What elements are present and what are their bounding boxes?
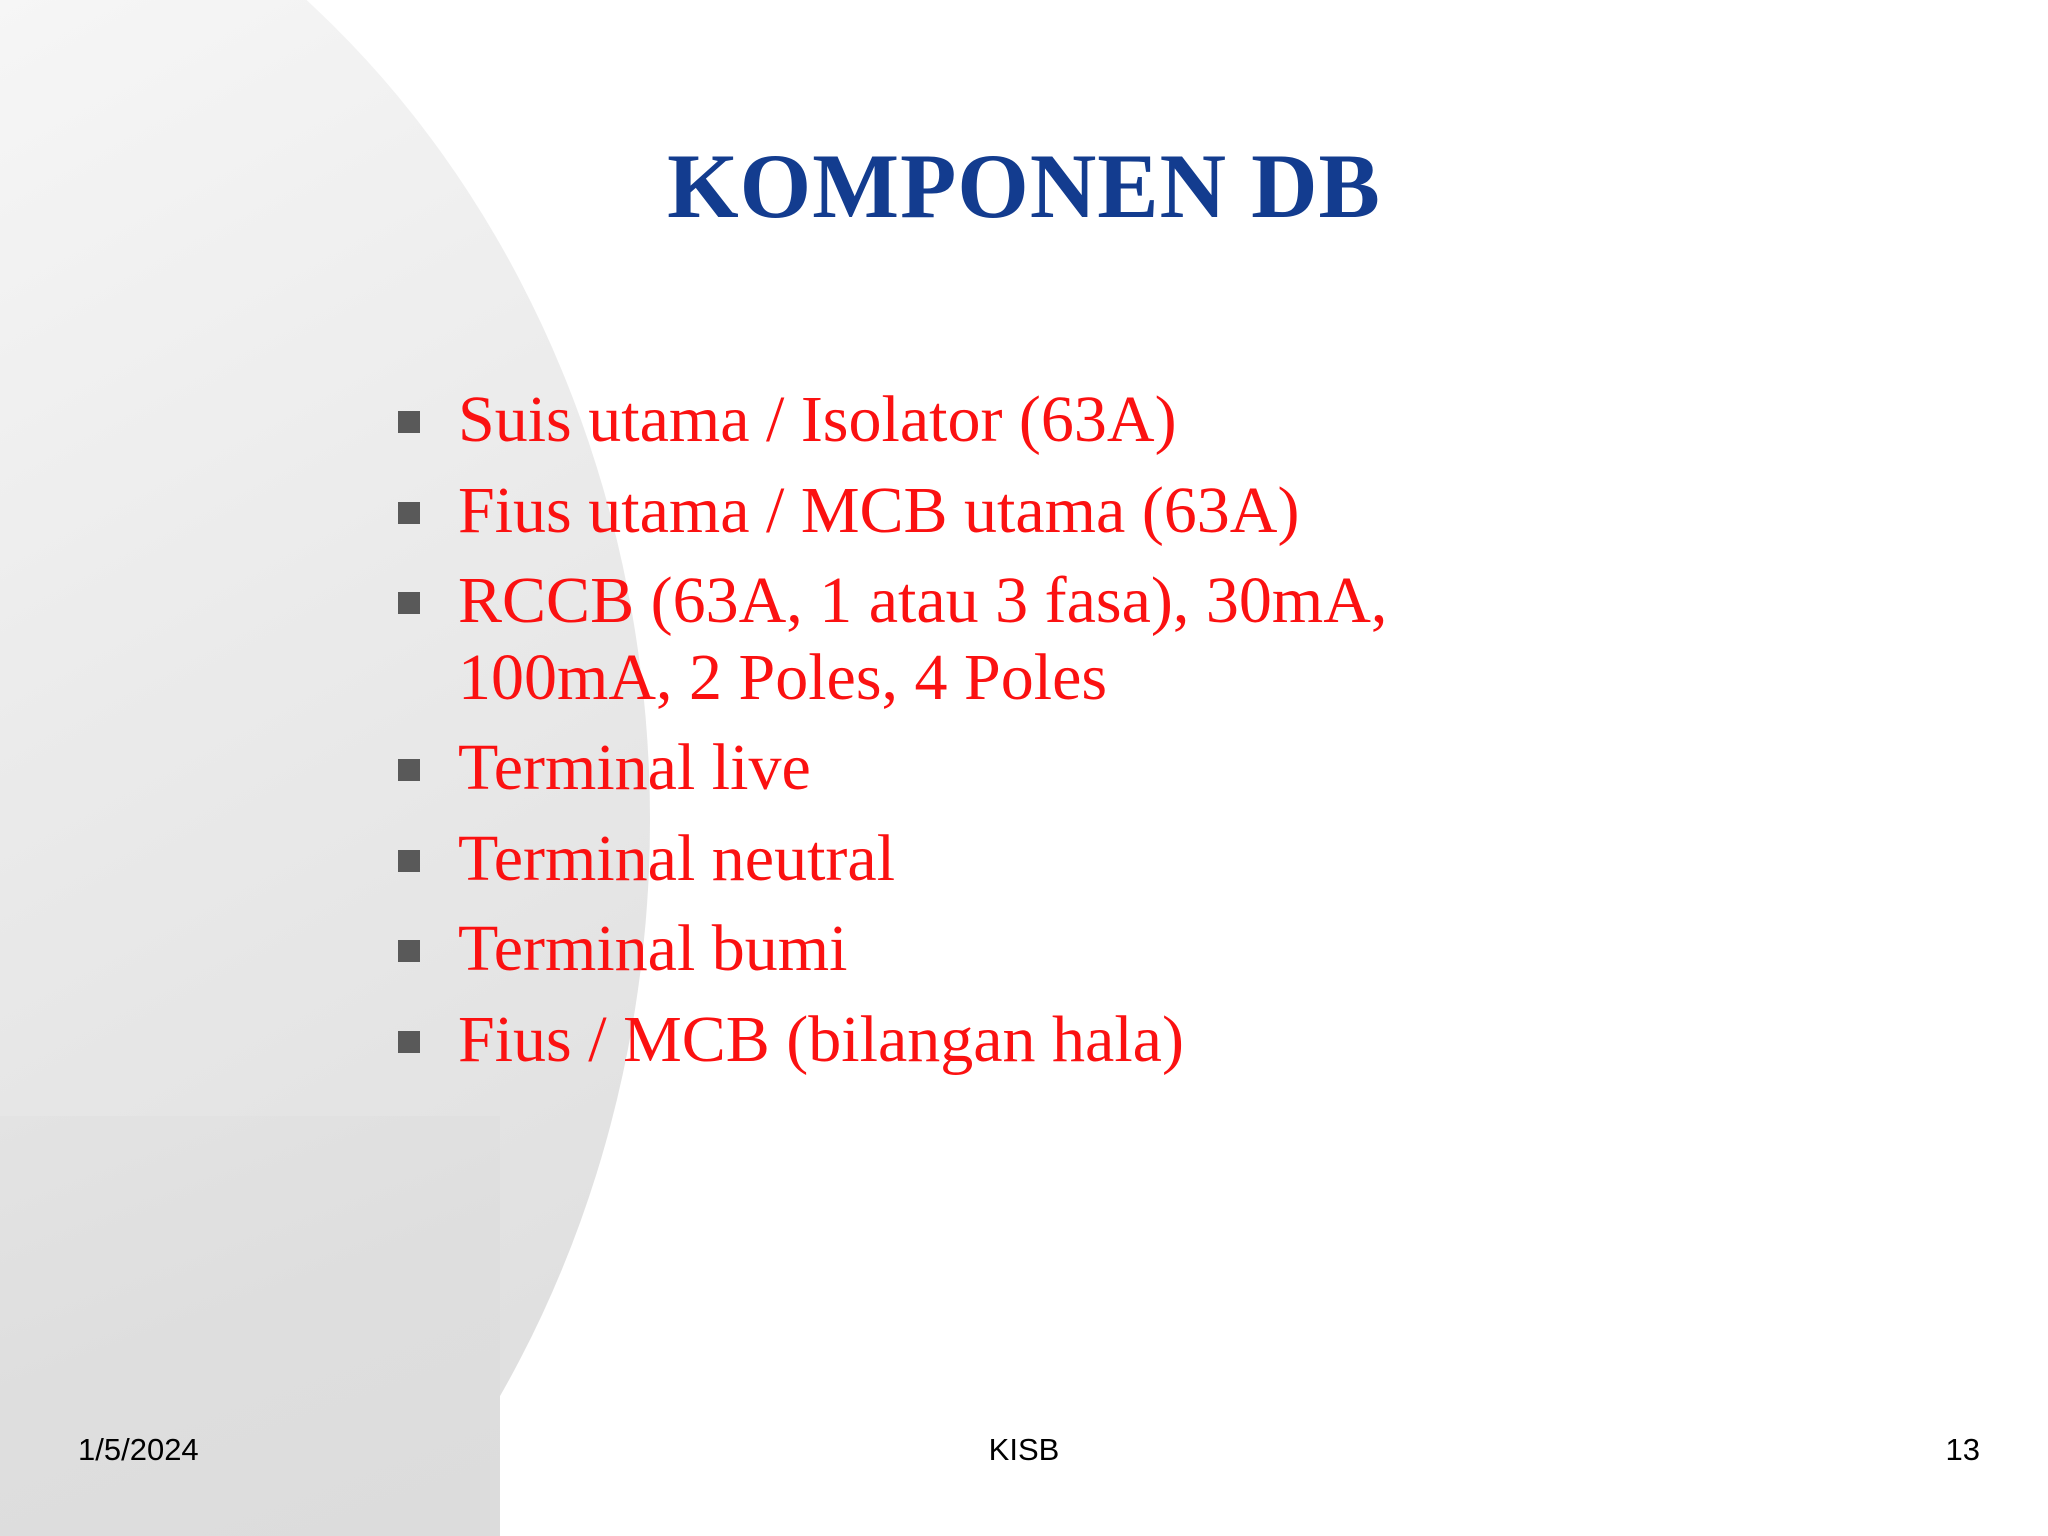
square-bullet-icon xyxy=(398,592,420,614)
square-bullet-icon xyxy=(398,1031,420,1053)
list-item-label: Suis utama / Isolator (63A) xyxy=(458,382,1618,459)
square-bullet-icon xyxy=(398,940,420,962)
list-item: Terminal live xyxy=(398,730,1798,807)
list-item: Terminal neutral xyxy=(398,821,1798,898)
list-item: Fius / MCB (bilangan hala) xyxy=(398,1002,1798,1079)
list-item-label: RCCB (63A, 1 atau 3 fasa), 30mA, 100mA, … xyxy=(458,563,1618,716)
slide-canvas: KOMPONEN DB Suis utama / Isolator (63A) … xyxy=(0,0,2048,1536)
square-bullet-icon xyxy=(398,850,420,872)
square-bullet-icon xyxy=(398,411,420,433)
list-item-label: Fius utama / MCB utama (63A) xyxy=(458,473,1618,550)
list-item-label: Terminal bumi xyxy=(458,911,1618,988)
page-title: KOMPONEN DB xyxy=(0,138,2048,235)
square-bullet-icon xyxy=(398,502,420,524)
list-item: Fius utama / MCB utama (63A) xyxy=(398,473,1798,550)
square-bullet-icon xyxy=(398,759,420,781)
list-item: RCCB (63A, 1 atau 3 fasa), 30mA, 100mA, … xyxy=(398,563,1798,716)
footer-page-number: 13 xyxy=(0,1432,2048,1468)
list-item: Terminal bumi xyxy=(398,911,1798,988)
bullet-list: Suis utama / Isolator (63A) Fius utama /… xyxy=(398,382,1798,1092)
list-item: Suis utama / Isolator (63A) xyxy=(398,382,1798,459)
list-item-label: Terminal live xyxy=(458,730,1618,807)
list-item-label: Terminal neutral xyxy=(458,821,1618,898)
slide-footer: 1/5/2024 KISB 13 xyxy=(0,1432,2048,1492)
list-item-label: Fius / MCB (bilangan hala) xyxy=(458,1002,1618,1079)
slide-content: KOMPONEN DB Suis utama / Isolator (63A) … xyxy=(0,0,2048,1536)
